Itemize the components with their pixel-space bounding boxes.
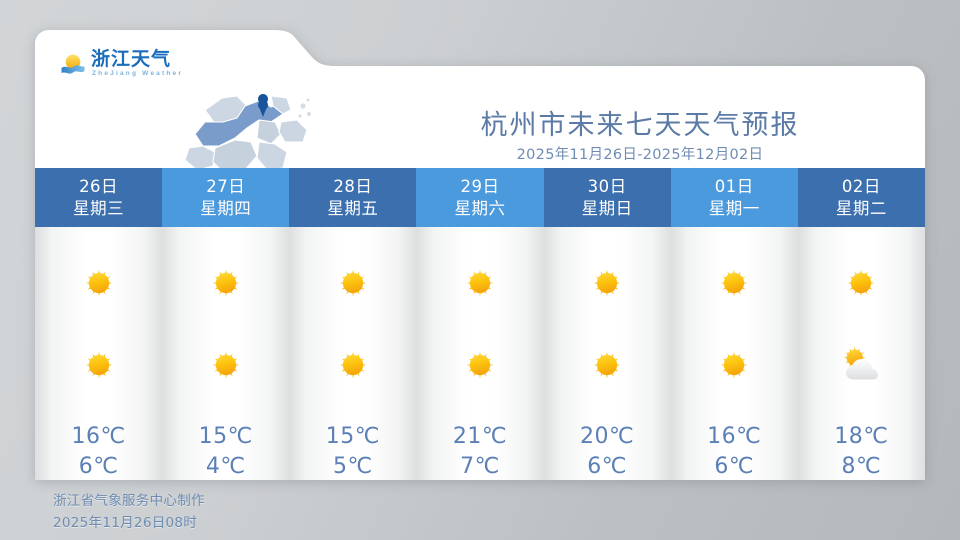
- temp-high: 21℃: [453, 422, 507, 452]
- sun-icon-night: [73, 339, 125, 396]
- temp-low: 4℃: [199, 452, 253, 482]
- page-title: 杭州市未来七天天气预报: [390, 103, 890, 142]
- temp-high: 16℃: [707, 422, 761, 452]
- day-weekday: 星期四: [200, 198, 251, 219]
- sun-behind-cloud-icon-night: [835, 339, 887, 396]
- day-date: 26日: [79, 176, 118, 197]
- day-weekday: 星期日: [582, 198, 633, 219]
- day-date: 01日: [715, 176, 754, 197]
- sun-icon-night: [581, 339, 633, 396]
- sun-icon-day: [200, 257, 252, 314]
- day-column-28日[interactable]: 15℃5℃: [289, 227, 416, 480]
- sun-icon-day: [454, 257, 506, 314]
- day-column-01日[interactable]: 16℃6℃: [671, 227, 798, 480]
- temp-high: 15℃: [326, 422, 380, 452]
- day-weekday: 星期六: [454, 198, 505, 219]
- sun-icon-night: [454, 339, 506, 396]
- day-temperatures: 20℃6℃: [580, 422, 634, 481]
- sun-icon-day: [581, 257, 633, 314]
- day-column-27日[interactable]: 15℃4℃: [162, 227, 289, 480]
- day-date: 02日: [842, 176, 881, 197]
- sun-icon-day: [708, 257, 760, 314]
- sun-icon-day: [73, 257, 125, 314]
- day-body-row: 16℃6℃15℃4℃15℃5℃21℃7℃20℃6℃16℃6℃18℃8℃: [35, 227, 925, 480]
- sun-icon-day: [327, 257, 379, 314]
- footer-producer: 浙江省气象服务中心制作: [53, 491, 205, 513]
- day-temperatures: 18℃8℃: [834, 422, 888, 481]
- brand-logo: 浙江天气 ZheJiang Weather: [61, 47, 191, 85]
- day-temperatures: 15℃4℃: [199, 422, 253, 481]
- day-header-01日[interactable]: 01日星期一: [671, 168, 798, 227]
- day-temperatures: 21℃7℃: [453, 422, 507, 481]
- day-column-30日[interactable]: 20℃6℃: [544, 227, 671, 480]
- date-range: 2025年11月26日-2025年12月02日: [390, 143, 890, 164]
- day-column-26日[interactable]: 16℃6℃: [35, 227, 162, 480]
- temp-low: 8℃: [834, 452, 888, 482]
- sun-icon-day: [835, 257, 887, 314]
- forecast-card: 浙江天气 ZheJiang Weather: [35, 30, 925, 480]
- day-weekday: 星期三: [73, 198, 124, 219]
- temp-high: 18℃: [834, 422, 888, 452]
- footer: 浙江省气象服务中心制作 2025年11月26日08时: [53, 491, 205, 535]
- day-temperatures: 16℃6℃: [707, 422, 761, 481]
- day-date: 27日: [206, 176, 245, 197]
- day-header-30日[interactable]: 30日星期日: [544, 168, 671, 227]
- day-temperatures: 16℃6℃: [71, 422, 125, 481]
- day-temperatures: 15℃5℃: [326, 422, 380, 481]
- day-header-29日[interactable]: 29日星期六: [416, 168, 543, 227]
- day-header-row: 26日星期三27日星期四28日星期五29日星期六30日星期日01日星期一02日星…: [35, 168, 925, 227]
- day-column-29日[interactable]: 21℃7℃: [416, 227, 543, 480]
- temp-low: 6℃: [580, 452, 634, 482]
- day-header-27日[interactable]: 27日星期四: [162, 168, 289, 227]
- temp-high: 15℃: [199, 422, 253, 452]
- temp-low: 6℃: [707, 452, 761, 482]
- sun-icon-night: [708, 339, 760, 396]
- temp-low: 6℃: [71, 452, 125, 482]
- sun-icon-night: [327, 339, 379, 396]
- brand-name-cn: 浙江天气: [91, 49, 171, 69]
- day-header-02日[interactable]: 02日星期二: [798, 168, 925, 227]
- day-column-02日[interactable]: 18℃8℃: [798, 227, 925, 480]
- day-weekday: 星期二: [836, 198, 887, 219]
- brand-name-en: ZheJiang Weather: [92, 70, 183, 77]
- day-weekday: 星期五: [327, 198, 378, 219]
- sun-icon-night: [200, 339, 252, 396]
- day-date: 30日: [588, 176, 627, 197]
- temp-high: 16℃: [71, 422, 125, 452]
- temp-low: 5℃: [326, 452, 380, 482]
- temp-high: 20℃: [580, 422, 634, 452]
- day-header-28日[interactable]: 28日星期五: [289, 168, 416, 227]
- sun-wave-icon: [61, 53, 85, 77]
- day-weekday: 星期一: [709, 198, 760, 219]
- temp-low: 7℃: [453, 452, 507, 482]
- day-date: 29日: [460, 176, 499, 197]
- footer-issued-time: 2025年11月26日08时: [53, 513, 205, 535]
- day-date: 28日: [333, 176, 372, 197]
- day-header-26日[interactable]: 26日星期三: [35, 168, 162, 227]
